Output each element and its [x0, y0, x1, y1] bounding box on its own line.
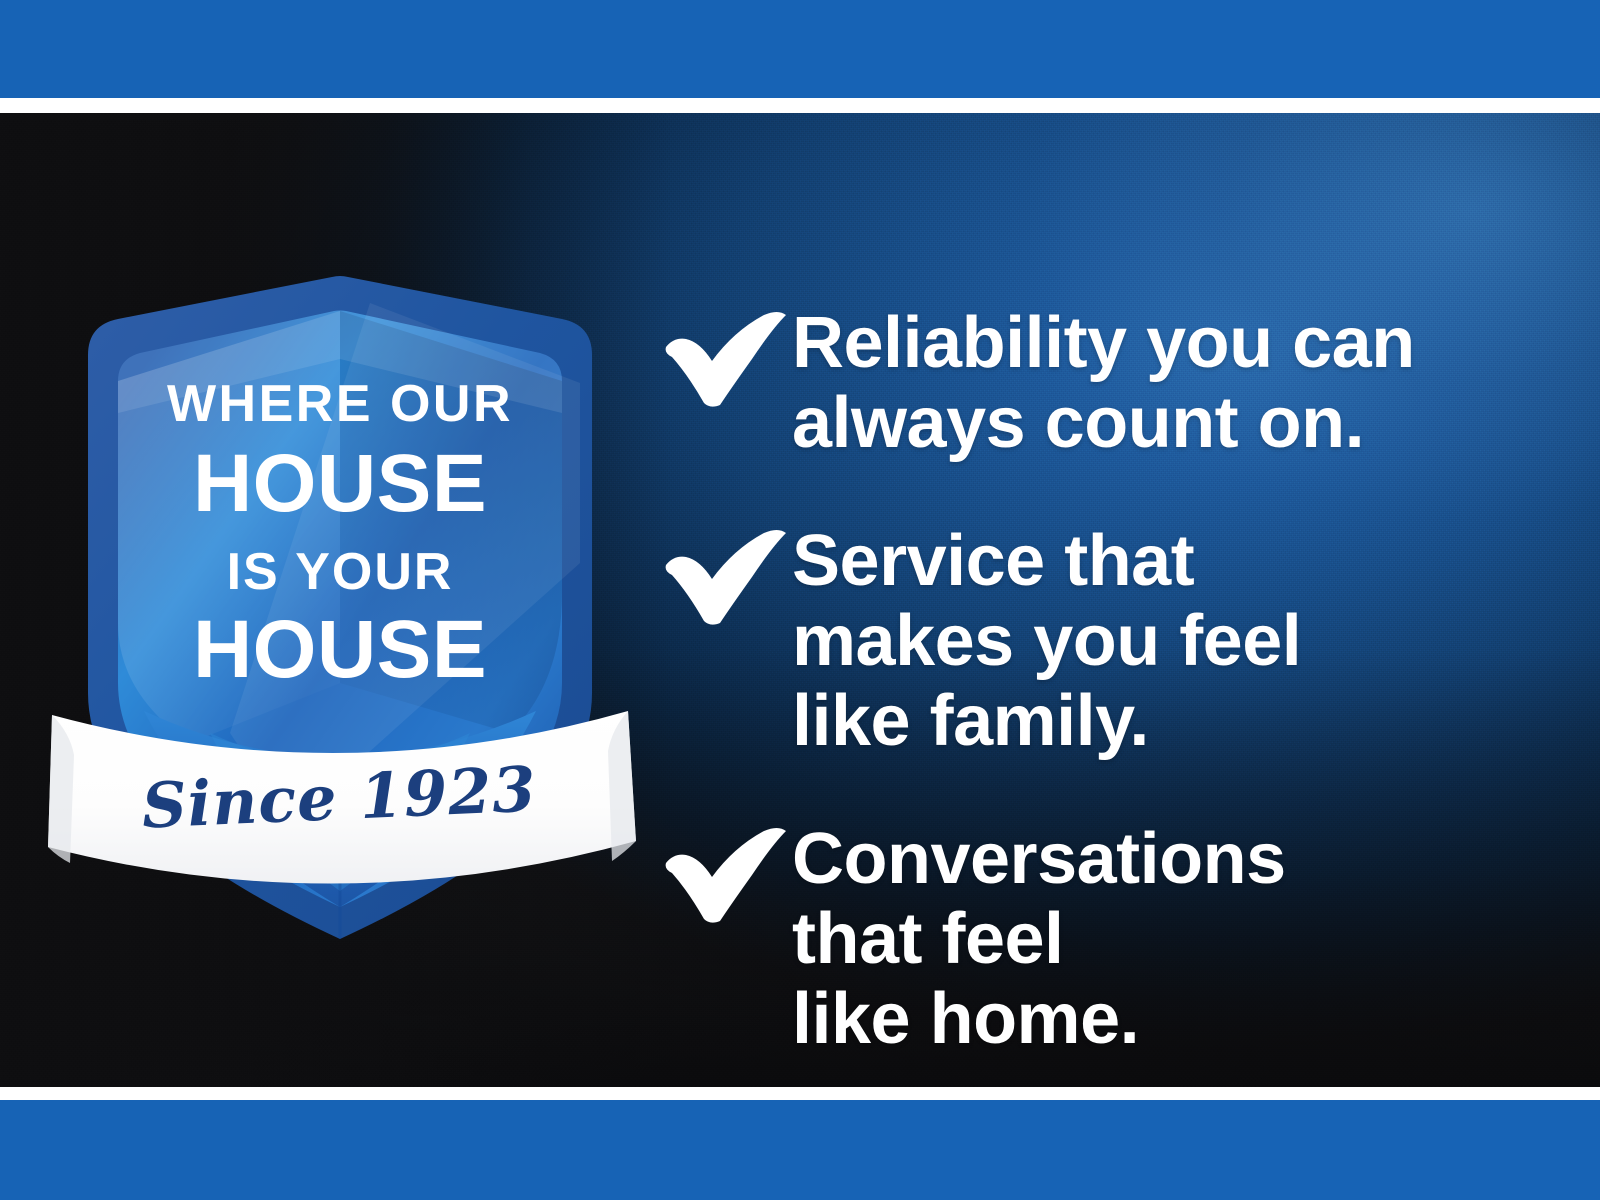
top-brand-bar	[0, 0, 1600, 98]
checkmark-icon	[660, 825, 792, 925]
list-item-label: Reliability you can always count on.	[792, 303, 1540, 463]
shield-line-3: IS YOUR	[227, 543, 454, 601]
main-canvas: WHERE OUR HOUSE IS YOUR HOUSE Since 1923	[0, 113, 1600, 1087]
shield-line-4: HOUSE	[193, 604, 487, 695]
list-item: Conversations that feel like home.	[660, 819, 1540, 1059]
checkmark-icon	[660, 527, 792, 627]
list-item-label: Conversations that feel like home.	[792, 819, 1540, 1059]
shield-line-1: WHERE OUR	[167, 375, 513, 433]
list-item-label: Service that makes you feel like family.	[792, 521, 1540, 761]
checkmark-icon	[660, 309, 792, 409]
list-item: Service that makes you feel like family.	[660, 521, 1540, 761]
shield-line-2: HOUSE	[193, 438, 487, 529]
value-proposition-list: Reliability you can always count on. Ser…	[660, 303, 1540, 1059]
company-shield-emblem: WHERE OUR HOUSE IS YOUR HOUSE Since 1923	[40, 263, 640, 953]
list-item: Reliability you can always count on.	[660, 303, 1540, 463]
bottom-brand-bar	[0, 1100, 1600, 1200]
promotional-graphic: WHERE OUR HOUSE IS YOUR HOUSE Since 1923	[0, 0, 1600, 1200]
